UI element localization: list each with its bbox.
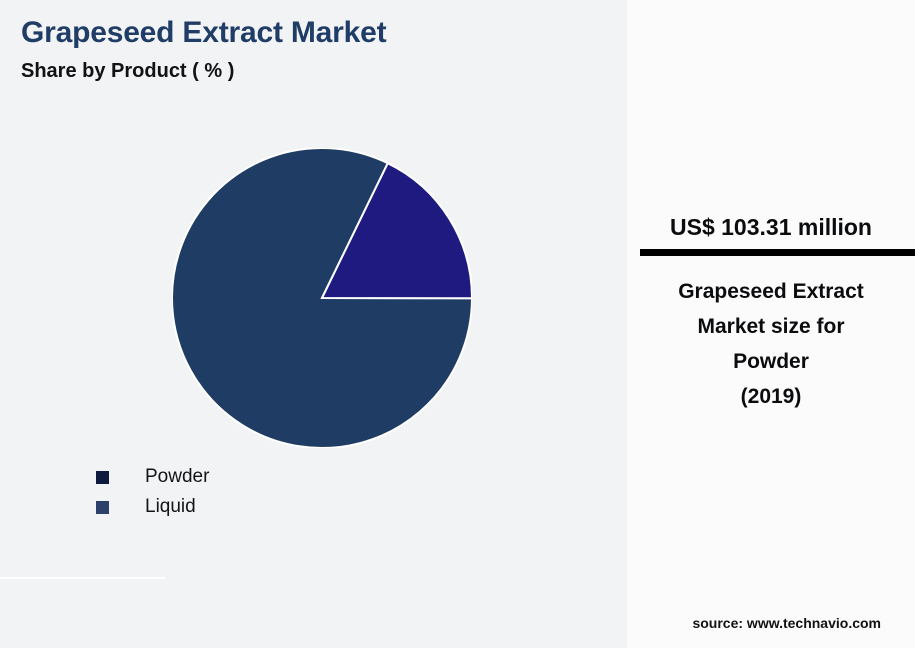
- source-note: source: www.technavio.com: [627, 615, 915, 631]
- legend-label-powder: Powder: [145, 466, 209, 488]
- legend-swatch-liquid: [96, 501, 109, 514]
- legend-item-powder[interactable]: Powder: [96, 462, 396, 492]
- kpi-value: US$ 103.31 million: [627, 214, 915, 241]
- pie-chart: [172, 148, 472, 448]
- page-title: Grapeseed Extract Market: [21, 16, 386, 50]
- chart-canvas: Grapeseed Extract Market Share by Produc…: [0, 0, 915, 648]
- kpi-divider: [640, 249, 915, 256]
- legend-swatch-powder: [96, 471, 109, 484]
- chart-right-panel: US$ 103.31 million Grapeseed Extract Mar…: [627, 0, 915, 648]
- chart-left-panel: Grapeseed Extract Market Share by Produc…: [0, 0, 627, 648]
- legend-label-liquid: Liquid: [145, 496, 196, 518]
- kpi-caption: Grapeseed Extract Market size for Powder…: [635, 274, 907, 414]
- kpi-caption-line-4: (2019): [635, 379, 907, 414]
- kpi-caption-line-3: Powder: [635, 344, 907, 379]
- chart-subtitle: Share by Product ( % ): [21, 60, 234, 83]
- pie-chart-svg: [172, 148, 472, 448]
- kpi-caption-line-1: Grapeseed Extract: [635, 274, 907, 309]
- chart-legend: Powder Liquid: [96, 462, 396, 522]
- legend-item-liquid[interactable]: Liquid: [96, 492, 396, 522]
- footer-divider: [0, 577, 165, 579]
- kpi-caption-line-2: Market size for: [635, 309, 907, 344]
